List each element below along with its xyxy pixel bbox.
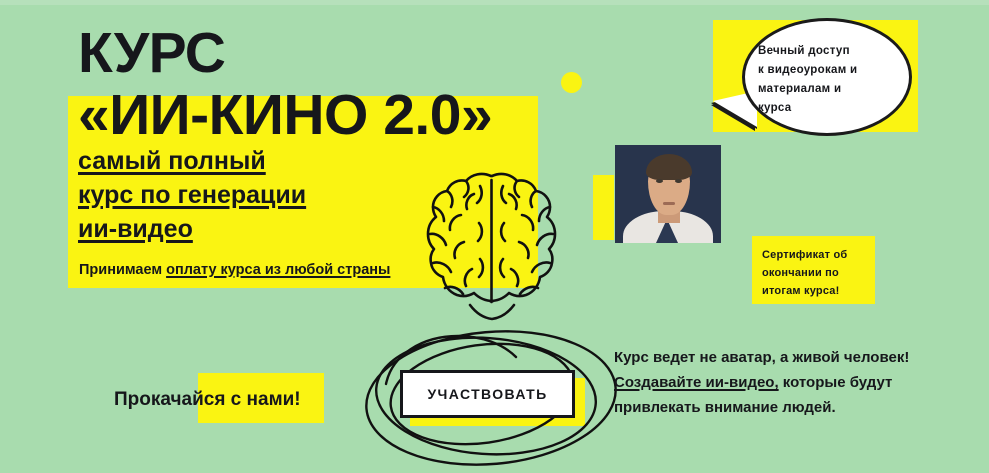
speech-bubble-text: Вечный доступ к видеоурокам и материалам… (758, 42, 898, 118)
certificate-line-2: окончании по (762, 264, 872, 282)
photo-mouth (663, 202, 675, 205)
tagline-text: Прокачайся с нами! (114, 389, 301, 411)
bubble-line-3: материалам и (758, 80, 898, 99)
participate-button[interactable]: УЧАСТВОВАТЬ (400, 370, 575, 418)
photo-eye-left (656, 179, 663, 183)
promo-line-1: Курс ведет не аватар, а живой человек! (614, 345, 944, 370)
headline-line-2: «ИИ-КИНО 2.0» (78, 84, 598, 146)
photo-yellow-accent (593, 175, 614, 240)
instructor-photo (615, 145, 721, 243)
bubble-line-2: к видеоурокам и (758, 61, 898, 80)
participate-button-label: УЧАСТВОВАТЬ (427, 386, 547, 402)
payment-note: Принимаем оплату курса из любой страны (79, 261, 390, 279)
subtitle-line-2: курс по генерации (78, 178, 508, 212)
photo-eye-right (675, 179, 682, 183)
subtitle-line-1: самый полный (78, 144, 508, 178)
promo-line-3: привлекать внимание людей. (614, 395, 944, 420)
bubble-line-1: Вечный доступ (758, 42, 898, 61)
speech-bubble: Вечный доступ к видеоурокам и материалам… (742, 18, 912, 136)
promo-link[interactable]: Создавайте ии-видео, (614, 374, 779, 391)
payment-note-link[interactable]: оплату курса из любой страны (166, 262, 390, 278)
top-edge-strip (0, 0, 989, 5)
bubble-line-4: курса (758, 99, 898, 118)
certificate-badge-text: Сертификат об окончании по итогам курса! (762, 246, 872, 300)
page-title: КУРС «ИИ-КИНО 2.0» (78, 22, 598, 146)
promo-line-2-rest: которые будут (779, 374, 893, 391)
hero-banner: КУРС «ИИ-КИНО 2.0» самый полный курс по … (0, 0, 989, 473)
headline-line-1: КУРС (78, 22, 598, 84)
promo-paragraph: Курс ведет не аватар, а живой человек! С… (614, 345, 944, 420)
certificate-line-1: Сертификат об (762, 246, 872, 264)
payment-note-plain: Принимаем (79, 262, 166, 278)
promo-line-2: Создавайте ии-видео, которые будут (614, 370, 944, 395)
subtitle: самый полный курс по генерации ии-видео (78, 144, 508, 246)
certificate-line-3: итогам курса! (762, 282, 872, 300)
subtitle-line-3: ии-видео (78, 212, 508, 246)
